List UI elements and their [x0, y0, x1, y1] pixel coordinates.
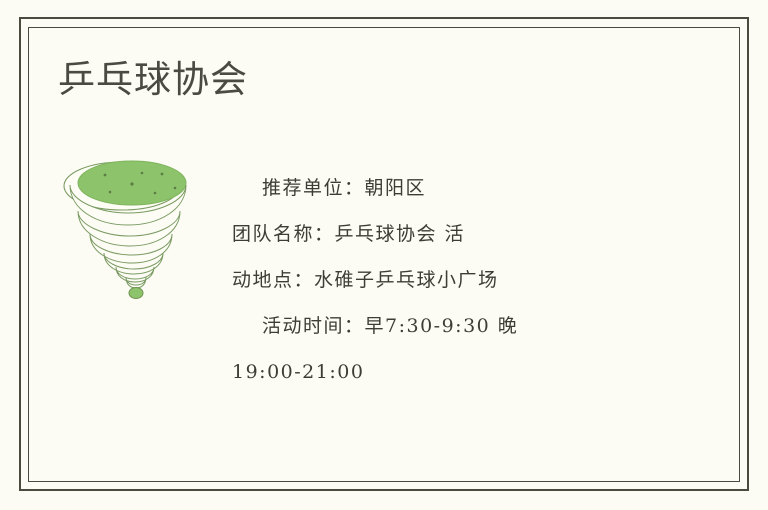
info-line-recommending-unit: 推荐单位：朝阳区: [232, 165, 632, 211]
info-line-team-name: 团队名称：乒乓球协会 活: [232, 211, 632, 257]
info-line-time-evening: 19:00-21:00: [232, 349, 632, 395]
poster-card: 乒乓球协会: [0, 0, 768, 510]
page-title: 乒乓球协会: [58, 59, 248, 102]
info-line-time: 活动时间：早7:30-9:30 晚: [232, 303, 632, 349]
poster-content: 乒乓球协会: [28, 27, 740, 482]
info-text-block: 推荐单位：朝阳区 团队名称：乒乓球协会 活 动地点：水碓子乒乓球小广场 活动时间…: [232, 165, 632, 395]
tornado-tip-dot: [129, 288, 143, 299]
info-line-location: 动地点：水碓子乒乓球小广场: [232, 257, 632, 303]
tornado-illustration: [50, 139, 220, 304]
